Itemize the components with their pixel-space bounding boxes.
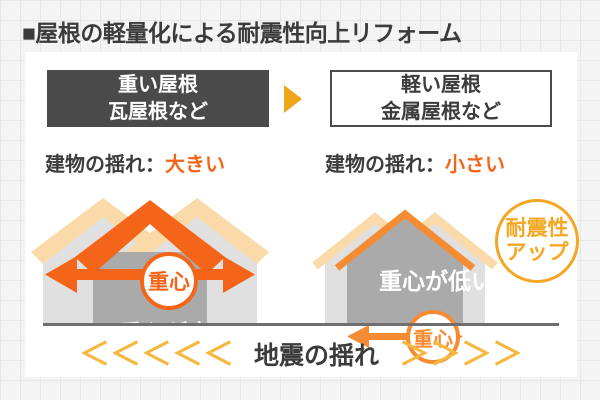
heavy-roof-line1: 重い屋根 bbox=[118, 72, 198, 98]
chevrons-right-icon: ＞＞＞＞ bbox=[399, 339, 523, 370]
left-shake-prefix: 建物の揺れ： bbox=[45, 154, 165, 176]
infographic-root: ■屋根の軽量化による耐震性向上リフォーム 重い屋根 瓦屋根など 軽い屋根 金属屋… bbox=[0, 0, 600, 400]
content-panel: 重い屋根 瓦屋根など 軽い屋根 金属屋根など 建物の揺れ：大きい 建物の揺れ：小… bbox=[25, 52, 577, 377]
heavy-roof-box: 重い屋根 瓦屋根など bbox=[47, 70, 269, 127]
left-center-of-gravity-badge: 重心 bbox=[140, 252, 198, 310]
ground-line bbox=[43, 323, 559, 326]
left-shake-value: 大きい bbox=[165, 154, 225, 176]
right-cog-height-label: 重心が低い bbox=[379, 262, 494, 296]
light-roof-line1: 軽い屋根 bbox=[401, 72, 481, 98]
seismic-upgrade-badge: 耐震性 アップ bbox=[495, 199, 579, 283]
right-shake-prefix: 建物の揺れ： bbox=[325, 154, 445, 176]
right-shake-subtitle: 建物の揺れ：小さい bbox=[325, 148, 505, 177]
light-roof-line2: 金属屋根など bbox=[381, 99, 501, 125]
badge-line2: アップ bbox=[506, 241, 569, 265]
right-shake-value: 小さい bbox=[445, 154, 505, 176]
earthquake-shaking-row: ＜＜＜＜＜ 地震の揺れ ＞＞＞＞ bbox=[25, 334, 577, 374]
chevrons-left-icon: ＜＜＜＜＜ bbox=[79, 339, 234, 370]
earthquake-shaking-label: 地震の揺れ bbox=[248, 336, 385, 372]
page-title: ■屋根の軽量化による耐震性向上リフォーム bbox=[22, 14, 462, 48]
badge-line1: 耐震性 bbox=[506, 217, 569, 241]
triangle-right-icon bbox=[284, 85, 302, 113]
light-roof-box: 軽い屋根 金属屋根など bbox=[330, 70, 552, 127]
left-shake-subtitle: 建物の揺れ：大きい bbox=[45, 148, 225, 177]
heavy-roof-line2: 瓦屋根など bbox=[108, 99, 208, 125]
